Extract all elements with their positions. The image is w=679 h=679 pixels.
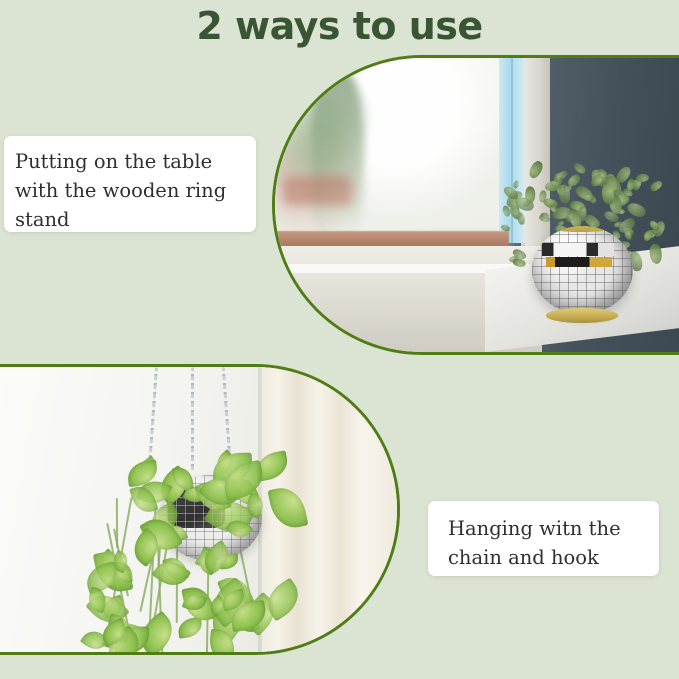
wooden-ring-stand	[546, 308, 619, 323]
disco-ball-planter	[532, 226, 633, 314]
caption-hanging-chain: Hanging witn the chain and hook	[428, 501, 659, 576]
mirror-band-upper	[542, 243, 615, 255]
hanging-scene	[0, 367, 397, 652]
planter-rim	[546, 226, 617, 232]
outdoor-roof	[283, 176, 352, 205]
outdoor-tree	[311, 70, 364, 241]
photo-windowsill	[272, 55, 679, 355]
caption-table-stand: Putting on the table with the wooden rin…	[4, 136, 256, 232]
infographic-stage: 2 ways to use	[0, 0, 679, 679]
window-glass	[275, 58, 501, 252]
page-title: 2 ways to use	[0, 4, 679, 48]
mirror-band-lower	[546, 257, 613, 267]
pothos-vine	[116, 498, 118, 548]
hanging-chain	[191, 367, 194, 472]
windowsill-scene	[275, 58, 679, 352]
photo-hanging	[0, 364, 400, 655]
